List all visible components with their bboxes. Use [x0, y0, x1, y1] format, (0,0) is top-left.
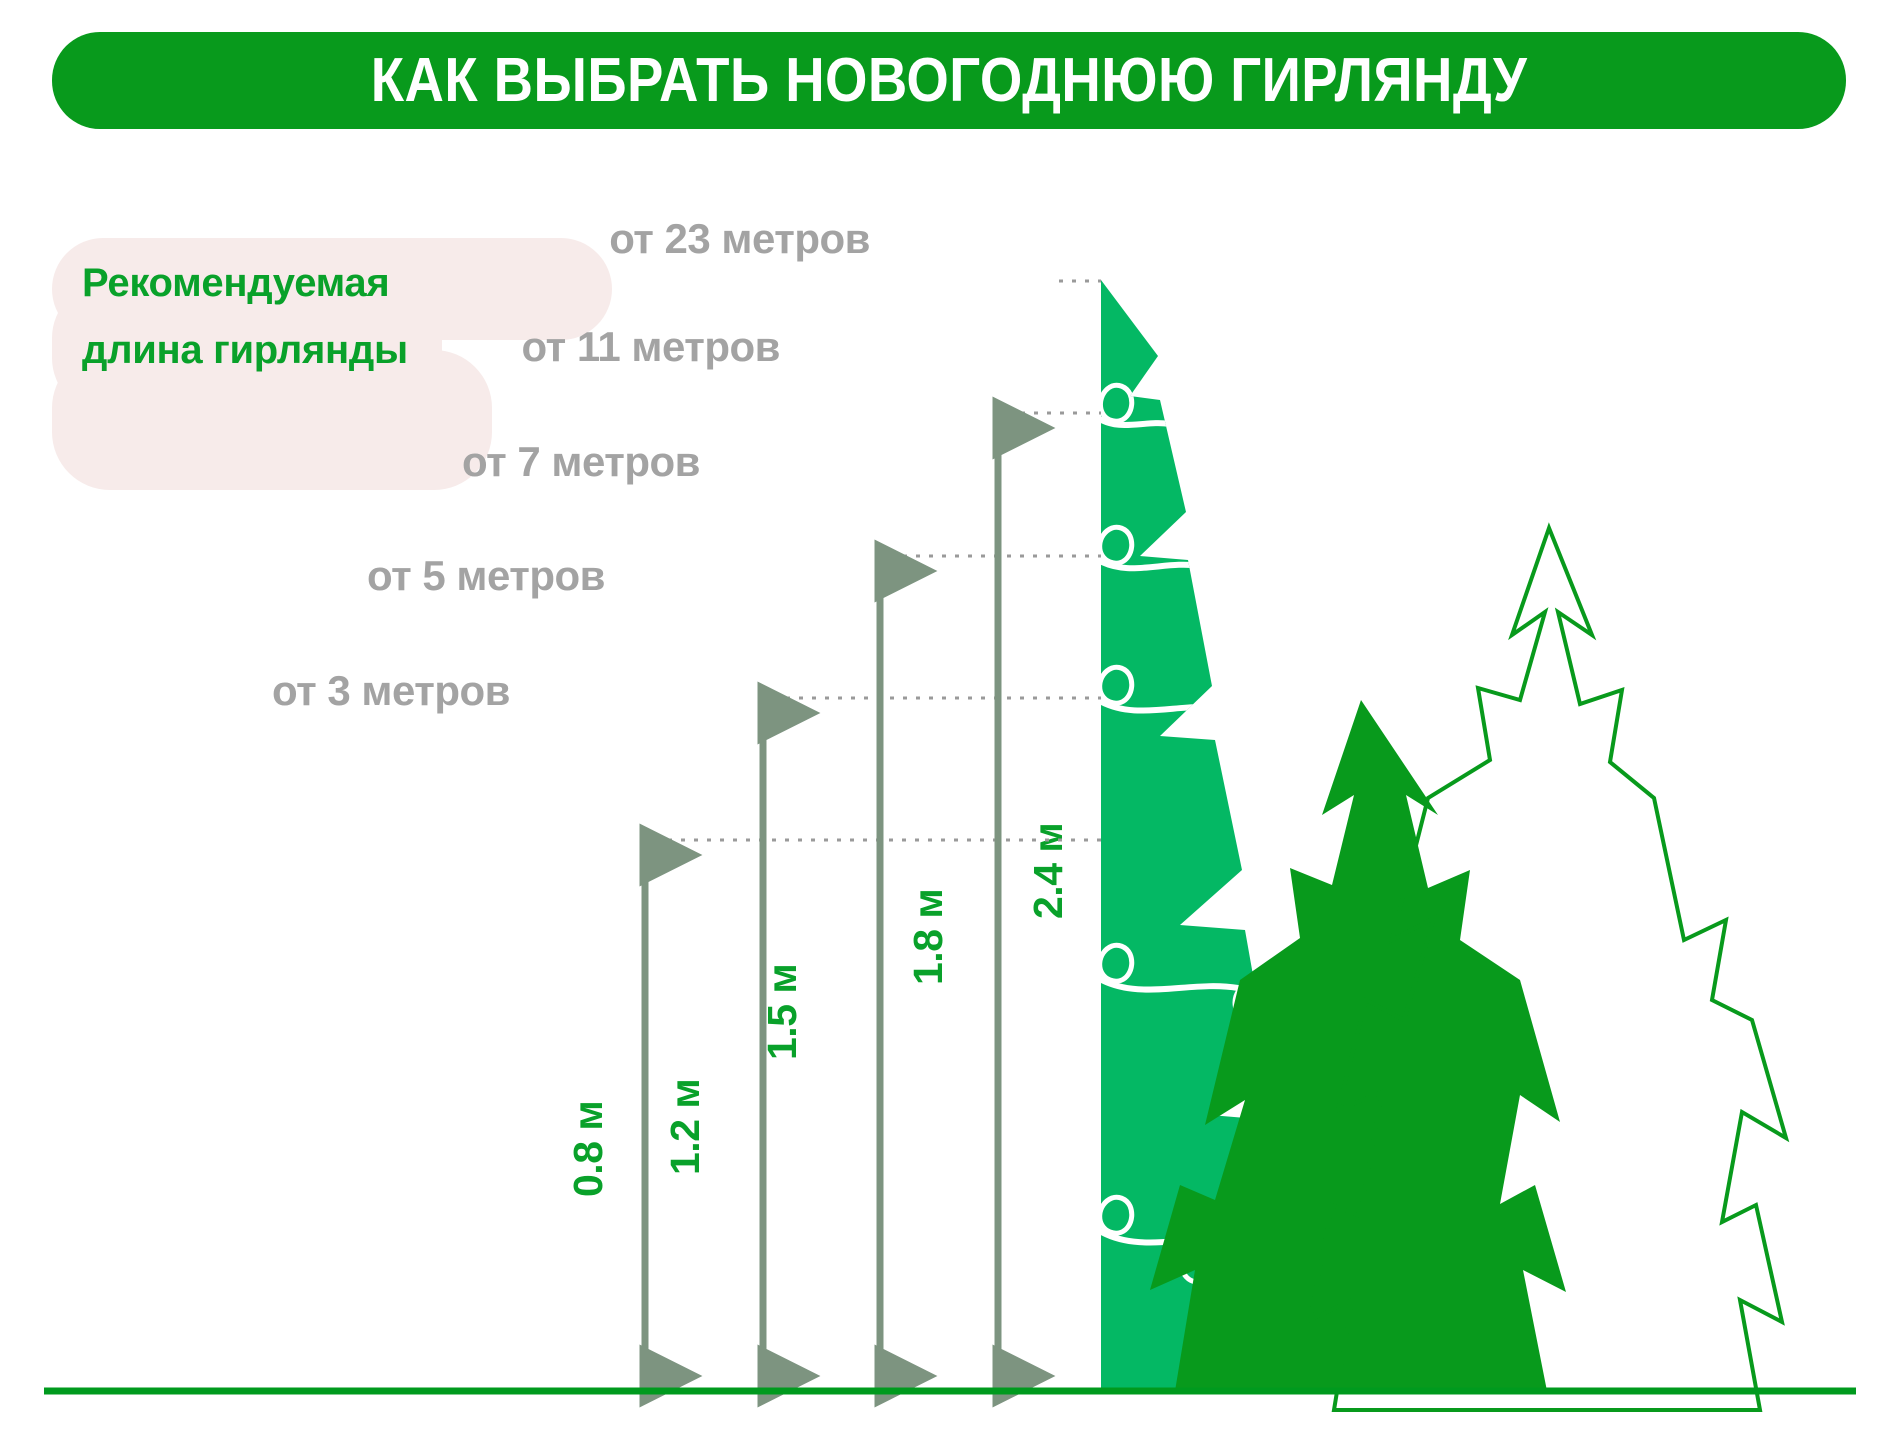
height-label-2-4m: 2.4 м	[1025, 823, 1072, 919]
height-label-1-5m: 1.5 м	[759, 964, 806, 1060]
height-label-1-8m: 1.8 м	[905, 889, 952, 985]
height-label-0-8m: 0.8 м	[565, 1101, 612, 1197]
label-7-meters: от 7 метров	[250, 438, 700, 486]
label-23-meters: от 23 метров	[420, 215, 870, 263]
label-5-meters: от 5 метров	[155, 552, 605, 600]
dark-green-tree	[1150, 700, 1566, 1391]
height-label-1-2m: 1.2 м	[662, 1079, 709, 1175]
outline-tree	[1310, 528, 1786, 1410]
label-3-meters: от 3 метров	[60, 667, 510, 715]
infographic-canvas: КАК ВЫБРАТЬ НОВОГОДНЮЮ ГИРЛЯНДУ Рекоменд…	[0, 0, 1898, 1436]
label-11-meters: от 11 метров	[330, 323, 780, 371]
